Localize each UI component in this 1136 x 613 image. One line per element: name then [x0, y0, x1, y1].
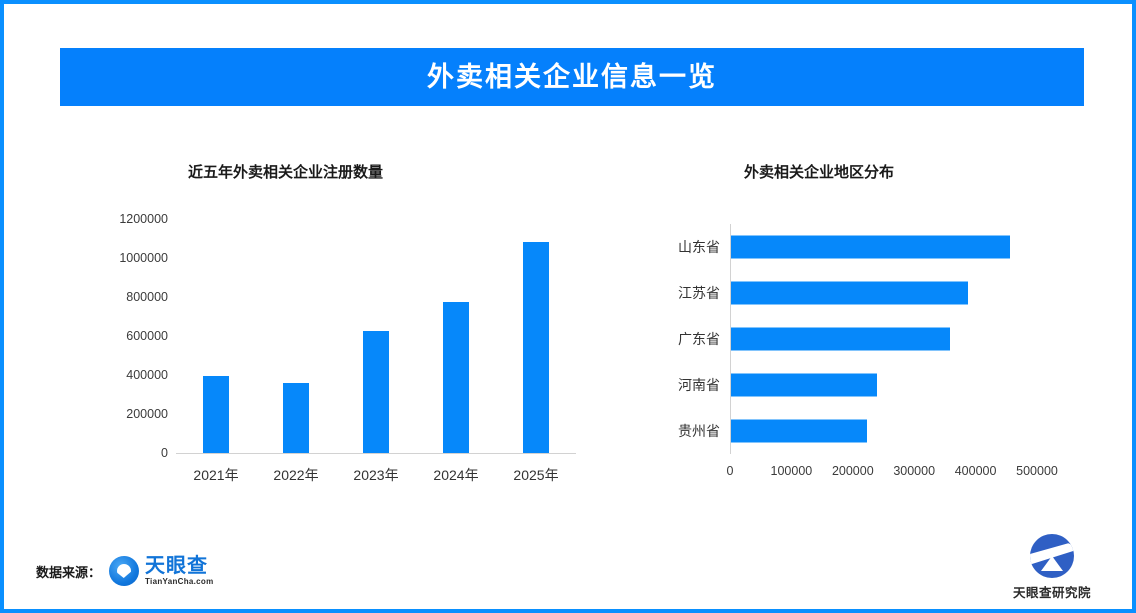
plot-area-horizontal: 0100000200000300000400000500000	[730, 224, 1060, 454]
category-label: 山东省	[678, 237, 720, 257]
y-tick-label: 800000	[126, 290, 168, 304]
bar-slot	[256, 219, 336, 453]
y-tick-label: 400000	[126, 368, 168, 382]
institute-mark-icon	[1030, 534, 1074, 578]
x-tick-label: 2024年	[416, 465, 496, 485]
institute-brand: 天眼查研究院	[1006, 534, 1098, 601]
x-tick-label: 300000	[893, 464, 935, 478]
bar[interactable]	[731, 328, 950, 351]
chart-panel-regional: 外卖相关企业地区分布 山东省江苏省广东省河南省贵州省 0100000200000…	[624, 144, 1094, 514]
chart-title-registrations: 近五年外卖相关企业注册数量	[188, 161, 383, 182]
x-tick-label: 0	[727, 464, 734, 478]
x-tick-label: 2025年	[496, 465, 576, 485]
bar[interactable]	[731, 420, 867, 443]
y-tick-label: 1200000	[119, 212, 168, 226]
bar[interactable]	[731, 374, 877, 397]
bar-slot	[336, 219, 416, 453]
plot-area-vertical: 2021年2022年2023年2024年2025年	[176, 219, 576, 454]
bar[interactable]	[731, 236, 1010, 259]
x-tick-label: 200000	[832, 464, 874, 478]
bar[interactable]	[523, 242, 549, 453]
y-tick-label: 1000000	[119, 251, 168, 265]
x-axis-line	[176, 453, 576, 454]
category-label: 广东省	[678, 329, 720, 349]
bar[interactable]	[363, 331, 389, 453]
data-source-label: 数据来源：	[36, 562, 101, 581]
bar[interactable]	[443, 302, 469, 453]
x-tick-label: 2023年	[336, 465, 416, 485]
vertical-bar-chart: 020000040000060000080000010000001200000 …	[84, 219, 584, 494]
x-tick-label: 500000	[1016, 464, 1058, 478]
page-banner: 外卖相关企业信息一览	[60, 48, 1084, 106]
horizontal-bar-chart: 山东省江苏省广东省河南省贵州省 010000020000030000040000…	[634, 224, 1084, 504]
x-tick-label: 2021年	[176, 465, 256, 485]
institute-name: 天眼查研究院	[1013, 582, 1091, 601]
y-axis-tick-labels: 020000040000060000080000010000001200000	[84, 219, 168, 454]
bar[interactable]	[283, 383, 309, 453]
bar-slot	[496, 219, 576, 453]
x-tick-label: 400000	[955, 464, 997, 478]
x-tick-label: 100000	[771, 464, 813, 478]
category-label: 贵州省	[678, 421, 720, 441]
chart-panel-registrations: 近五年外卖相关企业注册数量 02000004000006000008000001…	[64, 144, 584, 514]
tianyancha-logo-en: TianYanCha.com	[145, 578, 214, 586]
tianyancha-mark-icon	[109, 556, 139, 586]
category-label: 河南省	[678, 375, 720, 395]
bar-slot	[416, 219, 496, 453]
y-tick-label: 200000	[126, 407, 168, 421]
data-source: 数据来源： 天眼查 TianYanCha.com	[36, 556, 214, 586]
x-tick-label: 2022年	[256, 465, 336, 485]
bar-slot	[176, 219, 256, 453]
infographic-page: 外卖相关企业信息一览 近五年外卖相关企业注册数量 020000040000060…	[0, 0, 1136, 613]
chart-title-regional: 外卖相关企业地区分布	[744, 161, 894, 182]
bar[interactable]	[203, 376, 229, 453]
tianyancha-logo: 天眼查 TianYanCha.com	[109, 556, 214, 586]
category-axis-labels: 山东省江苏省广东省河南省贵州省	[634, 224, 720, 454]
bar[interactable]	[731, 282, 968, 305]
y-tick-label: 0	[161, 446, 168, 460]
tianyancha-wordmark: 天眼查 TianYanCha.com	[145, 556, 214, 586]
category-label: 江苏省	[678, 283, 720, 303]
y-tick-label: 600000	[126, 329, 168, 343]
page-title: 外卖相关企业信息一览	[427, 64, 717, 91]
tianyancha-logo-cn: 天眼查	[145, 556, 214, 576]
